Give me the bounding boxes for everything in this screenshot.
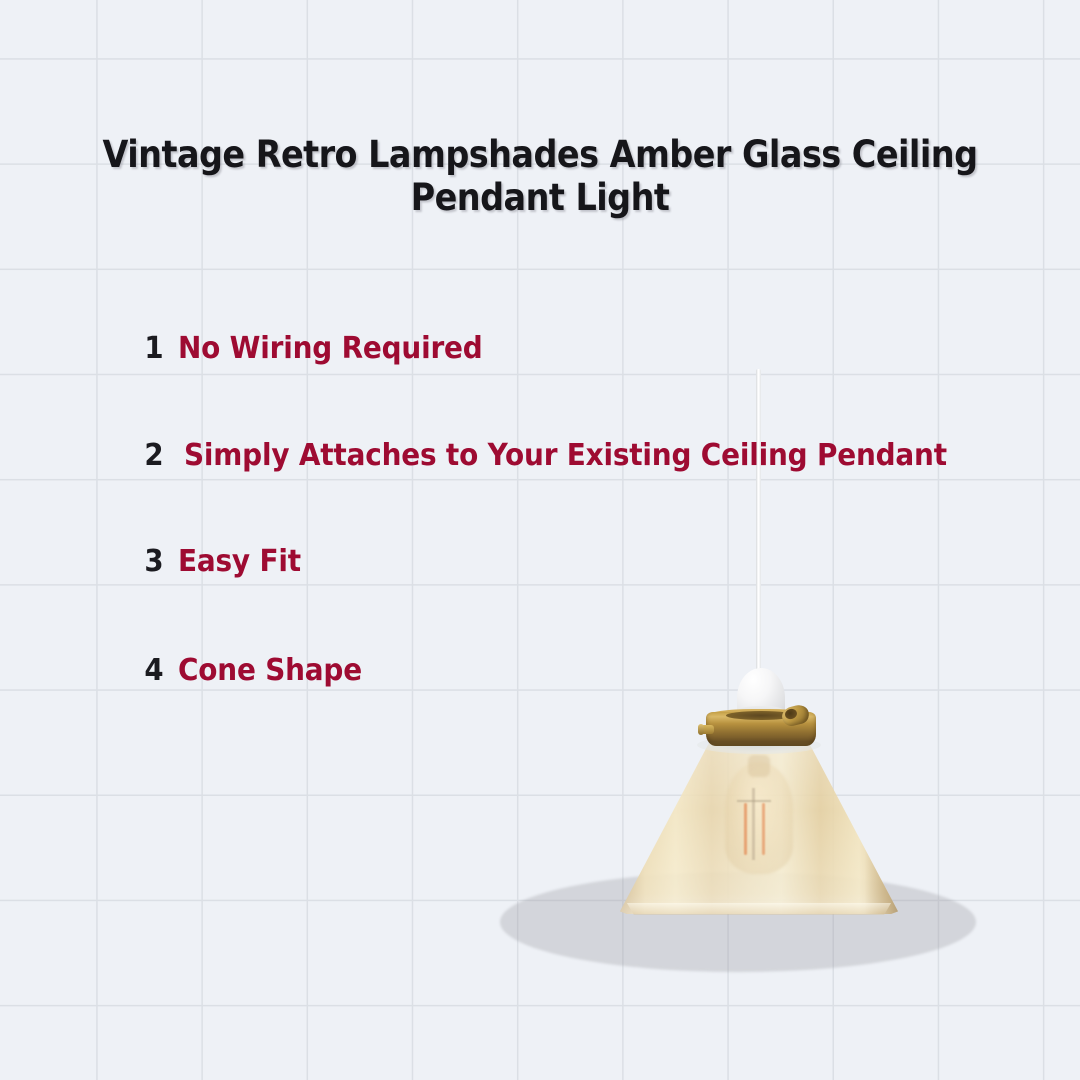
list-item: 4 Cone Shape [130,647,1050,693]
list-item: 2 Simply Attaches to Your Existing Ceili… [130,432,1050,478]
list-item-label: Easy Fit [178,544,301,579]
list-item-label: Cone Shape [178,653,362,688]
list-item: 3 Easy Fit [130,538,1050,584]
poster-canvas: Vintage Retro Lampshades Amber Glass Cei… [0,0,1080,1080]
list-item-label: No Wiring Required [178,331,483,366]
list-item-number: 4 [132,653,176,688]
list-item-label: Simply Attaches to Your Existing Ceiling… [184,438,947,473]
list-item-number: 2 [132,438,176,473]
feature-list: 1 No Wiring Required 2 Simply Attaches t… [0,0,1080,1080]
list-item-number: 1 [132,331,176,366]
list-item-number: 3 [132,544,176,579]
list-item: 1 No Wiring Required [130,325,1050,371]
